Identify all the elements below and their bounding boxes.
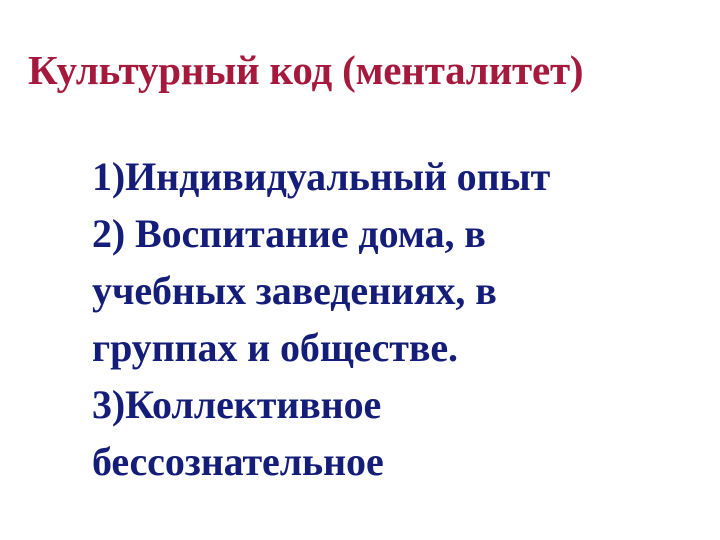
slide-title: Культурный код (менталитет) bbox=[28, 48, 692, 92]
body-line: учебных заведениях, в bbox=[92, 262, 692, 319]
body-line: 1)Индивидуальный опыт bbox=[92, 148, 692, 205]
body-line: бессознательное bbox=[92, 433, 692, 490]
slide-body-text-block: 1)Индивидуальный опыт 2) Воспитание дома… bbox=[92, 148, 692, 490]
presentation-slide: Культурный код (менталитет) 1)Индивидуал… bbox=[0, 0, 720, 540]
body-line: группах и обществе. bbox=[92, 319, 692, 376]
body-line: 2) Воспитание дома, в bbox=[92, 205, 692, 262]
body-line: 3)Коллективное bbox=[92, 376, 692, 433]
